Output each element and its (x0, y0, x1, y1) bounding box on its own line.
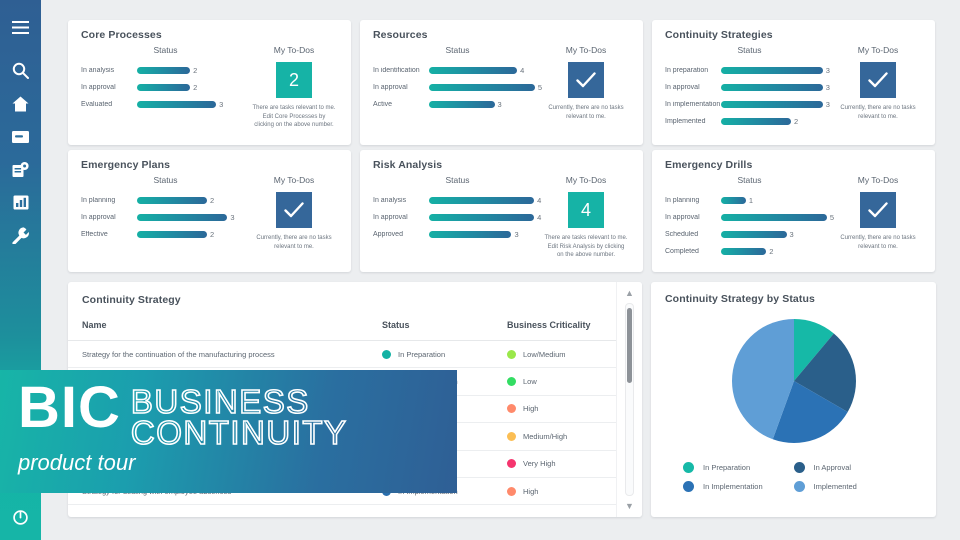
status-bar-label: In approval (373, 84, 429, 91)
status-bar-fill (429, 197, 534, 204)
status-bar-row: In approval4 (373, 209, 542, 226)
status-bar-fill (721, 84, 823, 91)
todo-note: Currently, there are no tasks relevant t… (834, 234, 922, 251)
status-bar-fill (721, 67, 823, 74)
status-bar-row: Approved3 (373, 226, 542, 243)
status-bar-label: In approval (665, 84, 721, 91)
status-bar-label: In analysis (81, 67, 137, 74)
status-bar-row: In approval2 (81, 79, 250, 96)
status-bar-value: 3 (230, 213, 234, 222)
criticality-dot-icon (507, 404, 516, 413)
status-bar-value: 2 (210, 196, 214, 205)
status-column-header: Status (665, 45, 834, 55)
status-bar-fill (721, 231, 787, 238)
todo-count-badge[interactable]: 4 (568, 192, 604, 228)
status-bar-label: Evaluated (81, 101, 137, 108)
criticality-dot-icon (507, 350, 516, 359)
todos-column-header: My To-Dos (542, 45, 630, 55)
status-bar-track: 5 (721, 213, 834, 222)
status-bar-track: 2 (137, 230, 250, 239)
banner-line-business: BUSINESS (131, 386, 348, 417)
status-bar-label: In implementation (665, 101, 721, 108)
status-bar-track: 1 (721, 196, 834, 205)
pie-chart-title: Continuity Strategy by Status (665, 293, 922, 305)
menu-icon[interactable] (0, 11, 41, 44)
status-bar-fill (137, 231, 207, 238)
continuity-strategy-by-status-card: Continuity Strategy by Status In Prepara… (651, 282, 936, 517)
status-bar-row: In approval5 (665, 209, 834, 226)
status-bar-track: 3 (721, 66, 834, 75)
search-icon[interactable] (0, 54, 41, 87)
status-bar-fill (429, 84, 535, 91)
criticality-dot-icon (507, 432, 516, 441)
status-bar-fill (429, 67, 517, 74)
status-bar-value: 4 (537, 213, 541, 222)
status-bar-value: 2 (769, 247, 773, 256)
legend-color-dot-icon (683, 481, 694, 492)
status-bar-track: 3 (137, 100, 250, 109)
cell-criticality-label: High (523, 404, 538, 413)
cell-criticality: Low (507, 377, 628, 386)
banner-subtitle: product tour (0, 450, 457, 476)
card-title: Continuity Strategies (665, 29, 922, 41)
table-row[interactable]: Strategy for the continuation of the man… (68, 341, 642, 368)
status-bar-row: In planning2 (81, 192, 250, 209)
scroll-down-arrow-icon[interactable]: ▼ (625, 501, 634, 511)
cell-criticality-label: Medium/High (523, 432, 567, 441)
cell-criticality: High (507, 487, 628, 496)
status-bar-fill (429, 101, 495, 108)
status-bar-label: In approval (81, 84, 137, 91)
status-bar-row: In analysis4 (373, 192, 542, 209)
kpi-row-middle: Emergency PlansStatusIn planning2In appr… (68, 150, 936, 272)
product-tour-banner: BIC BUSINESS CONTINUITY product tour (0, 370, 457, 493)
status-bar-label: In planning (665, 197, 721, 204)
kpi-card[interactable]: ResourcesStatusIn identification4In appr… (360, 20, 643, 145)
status-bar-track: 3 (721, 230, 834, 239)
table-scrollbar[interactable]: ▲ ▼ (616, 282, 642, 517)
folder-icon[interactable] (0, 120, 41, 153)
legend-label: In Preparation (703, 463, 750, 472)
power-icon[interactable] (0, 501, 41, 534)
cell-criticality-label: Low/Medium (523, 350, 566, 359)
status-bar-track: 5 (429, 83, 542, 92)
column-header-name: Name (82, 320, 382, 330)
wrench-icon[interactable] (0, 219, 41, 252)
scroll-up-arrow-icon[interactable]: ▲ (625, 288, 634, 298)
status-bar-value: 4 (520, 66, 524, 75)
status-bar-track: 4 (429, 196, 542, 205)
status-bar-row: In implementation3 (665, 96, 834, 113)
status-bar-row: In analysis2 (81, 62, 250, 79)
chart-icon[interactable] (0, 186, 41, 219)
status-bar-label: In approval (665, 214, 721, 221)
status-bar-value: 3 (514, 230, 518, 239)
status-bar-fill (137, 84, 190, 91)
criticality-dot-icon (507, 459, 516, 468)
cell-name: Strategy for the continuation of the man… (82, 350, 382, 359)
status-bar-value: 3 (826, 66, 830, 75)
status-bar-value: 3 (219, 100, 223, 109)
column-header-criticality: Business Criticality (507, 320, 628, 330)
status-bar-label: Active (373, 101, 429, 108)
todos-column-header: My To-Dos (834, 175, 922, 185)
status-bar-label: In analysis (373, 197, 429, 204)
card-title: Core Processes (81, 29, 338, 41)
legend-color-dot-icon (794, 481, 805, 492)
card-title: Risk Analysis (373, 159, 630, 171)
status-bar-row: Implemented2 (665, 113, 834, 130)
cell-criticality: Medium/High (507, 432, 628, 441)
todo-note: There are tasks relevant to me. Edit Ris… (542, 234, 630, 260)
status-bar-fill (137, 197, 207, 204)
table-title: Continuity Strategy (68, 282, 642, 306)
card-title: Emergency Drills (665, 159, 922, 171)
document-settings-icon[interactable] (0, 153, 41, 186)
todo-check-icon (860, 62, 896, 98)
legend-item[interactable]: In Approval (794, 462, 905, 473)
status-bar-track: 2 (721, 247, 834, 256)
status-bar-track: 3 (721, 100, 834, 109)
status-column-header: Status (373, 175, 542, 185)
cell-criticality: Low/Medium (507, 350, 628, 359)
column-header-status: Status (382, 320, 507, 330)
todo-note: Currently, there are no tasks relevant t… (542, 104, 630, 121)
status-column-header: Status (81, 175, 250, 185)
status-bar-track: 3 (429, 100, 542, 109)
legend-item[interactable]: In Preparation (683, 462, 794, 473)
status-column-header: Status (81, 45, 250, 55)
status-bar-label: Approved (373, 231, 429, 238)
todos-column-header: My To-Dos (250, 45, 338, 55)
kpi-card[interactable]: Emergency DrillsStatusIn planning1In app… (652, 150, 935, 272)
legend-color-dot-icon (683, 462, 694, 473)
status-bar-row: In identification4 (373, 62, 542, 79)
status-bar-fill (137, 67, 190, 74)
status-bar-fill (429, 214, 534, 221)
status-bar-label: Implemented (665, 118, 721, 125)
legend-color-dot-icon (794, 462, 805, 473)
status-bar-fill (429, 231, 511, 238)
todo-note: Currently, there are no tasks relevant t… (250, 234, 338, 251)
status-bar-value: 4 (537, 196, 541, 205)
status-bar-track: 4 (429, 66, 542, 75)
status-bar-track: 2 (137, 83, 250, 92)
card-title: Emergency Plans (81, 159, 338, 171)
cell-criticality: Very High (507, 459, 628, 468)
status-bar-label: Effective (81, 231, 137, 238)
bic-logo: BIC (18, 382, 121, 434)
status-bar-track: 3 (721, 83, 834, 92)
status-bar-row: In planning1 (665, 192, 834, 209)
status-bar-label: In planning (81, 197, 137, 204)
legend-label: In Approval (814, 463, 852, 472)
status-bar-fill (721, 248, 766, 255)
kpi-card[interactable]: Emergency PlansStatusIn planning2In appr… (68, 150, 351, 272)
cell-criticality-label: Low (523, 377, 537, 386)
status-bar-value: 2 (210, 230, 214, 239)
todo-note: There are tasks relevant to me. Edit Cor… (250, 104, 338, 130)
table-header: Name Status Business Criticality (68, 306, 642, 341)
status-bar-value: 2 (193, 83, 197, 92)
status-bar-track: 2 (721, 117, 834, 126)
status-bar-value: 3 (826, 100, 830, 109)
status-bar-row: In approval3 (81, 209, 250, 226)
kpi-card[interactable]: Continuity StrategiesStatusIn preparatio… (652, 20, 935, 145)
status-bar-value: 3 (498, 100, 502, 109)
status-bar-label: In preparation (665, 67, 721, 74)
status-bar-fill (721, 197, 746, 204)
status-bar-label: In approval (81, 214, 137, 221)
cell-status: In Preparation (382, 350, 507, 359)
status-bar-label: Scheduled (665, 231, 721, 238)
status-bar-track: 2 (137, 66, 250, 75)
todo-count-badge[interactable]: 2 (276, 62, 312, 98)
pie-chart (665, 313, 922, 449)
criticality-dot-icon (507, 487, 516, 496)
cell-criticality-label: High (523, 487, 538, 496)
cell-criticality: High (507, 404, 628, 413)
status-bar-row: Scheduled3 (665, 226, 834, 243)
status-bar-track: 2 (137, 196, 250, 205)
legend-item[interactable]: In Implementation (683, 481, 794, 492)
pie-chart-svg (722, 313, 866, 449)
todos-column-header: My To-Dos (542, 175, 630, 185)
status-bar-fill (137, 101, 216, 108)
card-title: Resources (373, 29, 630, 41)
todo-note: Currently, there are no tasks relevant t… (834, 104, 922, 121)
todos-column-header: My To-Dos (834, 45, 922, 55)
legend-item[interactable]: Implemented (794, 481, 905, 492)
todos-column-header: My To-Dos (250, 175, 338, 185)
status-dot-icon (382, 350, 391, 359)
legend-label: In Implementation (703, 482, 763, 491)
scrollbar-track[interactable] (625, 303, 634, 496)
status-bar-track: 4 (429, 213, 542, 222)
kpi-card[interactable]: Core ProcessesStatusIn analysis2In appro… (68, 20, 351, 145)
banner-line-continuity: CONTINUITY (131, 417, 348, 448)
pie-chart-legend: In PreparationIn ApprovalIn Implementati… (665, 462, 922, 500)
status-bar-fill (721, 118, 791, 125)
status-bar-value: 2 (193, 66, 197, 75)
status-bar-value: 3 (790, 230, 794, 239)
status-bar-value: 2 (794, 117, 798, 126)
status-bar-fill (137, 214, 227, 221)
status-bar-row: In approval5 (373, 79, 542, 96)
status-bar-row: In preparation3 (665, 62, 834, 79)
status-bar-fill (721, 101, 823, 108)
todo-check-icon (276, 192, 312, 228)
status-bar-value: 3 (826, 83, 830, 92)
status-bar-row: Effective2 (81, 226, 250, 243)
status-bar-fill (721, 214, 827, 221)
criticality-dot-icon (507, 377, 516, 386)
status-bar-row: Active3 (373, 96, 542, 113)
kpi-row-top: Core ProcessesStatusIn analysis2In appro… (68, 20, 936, 145)
todo-check-icon (568, 62, 604, 98)
status-bar-label: Completed (665, 248, 721, 255)
legend-label: Implemented (814, 482, 857, 491)
home-icon[interactable] (0, 87, 41, 120)
status-bar-label: In identification (373, 67, 429, 74)
status-bar-row: Evaluated3 (81, 96, 250, 113)
status-column-header: Status (665, 175, 834, 185)
cell-status-label: In Preparation (398, 350, 445, 359)
kpi-card[interactable]: Risk AnalysisStatusIn analysis4In approv… (360, 150, 643, 272)
status-bar-row: Completed2 (665, 243, 834, 260)
status-bar-label: In approval (373, 214, 429, 221)
status-bar-track: 3 (429, 230, 542, 239)
status-bar-track: 3 (137, 213, 250, 222)
todo-check-icon (860, 192, 896, 228)
status-bar-value: 1 (749, 196, 753, 205)
status-column-header: Status (373, 45, 542, 55)
cell-criticality-label: Very High (523, 459, 556, 468)
status-bar-row: In approval3 (665, 79, 834, 96)
scrollbar-thumb[interactable] (627, 308, 632, 383)
